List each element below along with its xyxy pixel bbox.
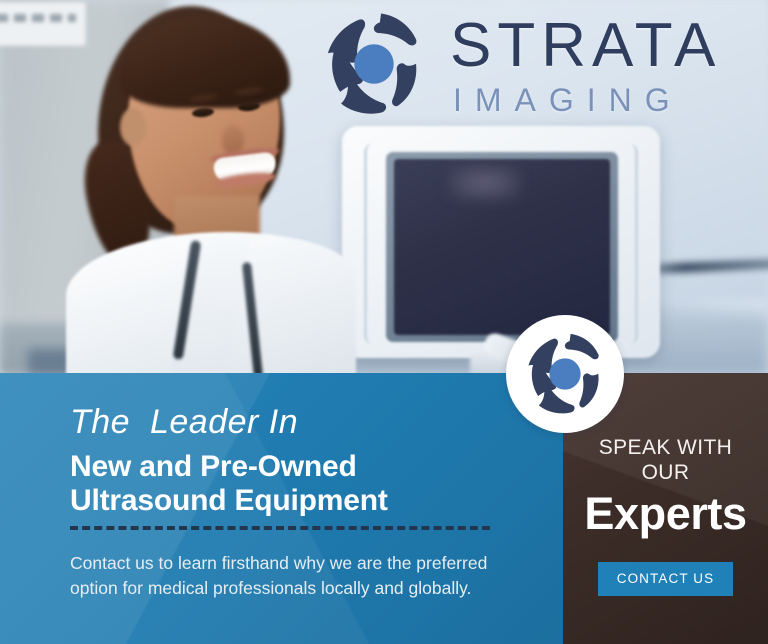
monitor-screen-glare — [450, 166, 520, 200]
cta-heading: SPEAK WITH OUR — [563, 435, 768, 485]
promo-banner: STRATA IMAGING The Leader In New and Pre… — [0, 0, 768, 644]
strata-triskelion-logo-icon — [519, 328, 611, 420]
promo-headline-line2: Ultrasound Equipment — [70, 484, 563, 518]
promo-kicker: The Leader In — [70, 405, 563, 441]
contact-us-button[interactable]: CONTACT US — [598, 562, 734, 596]
promo-headline-line1: New and Pre-Owned — [70, 450, 563, 484]
cta-emphasis-word: Experts — [563, 488, 768, 540]
brand-logo-header[interactable]: STRATA IMAGING — [316, 4, 762, 124]
promo-headline: New and Pre-Owned Ultrasound Equipment — [70, 450, 563, 518]
medical-professional-portrait — [62, 0, 342, 375]
brand-name-strata: STRATA — [450, 15, 721, 77]
promo-panel-blue: The Leader In New and Pre-Owned Ultrasou… — [0, 373, 563, 644]
cta-heading-line1: SPEAK WITH — [563, 435, 768, 460]
cta-heading-line2: OUR — [563, 460, 768, 485]
brand-name-imaging: IMAGING — [450, 84, 721, 116]
ultrasound-machine — [342, 126, 660, 375]
dashed-divider — [70, 526, 490, 530]
brand-logo-badge — [506, 315, 624, 433]
ear — [120, 108, 146, 146]
promo-body-text: Contact us to learn firsthand why we are… — [70, 551, 510, 601]
strata-triskelion-logo-icon — [316, 6, 432, 122]
brand-wordmark: STRATA IMAGING — [450, 13, 721, 116]
